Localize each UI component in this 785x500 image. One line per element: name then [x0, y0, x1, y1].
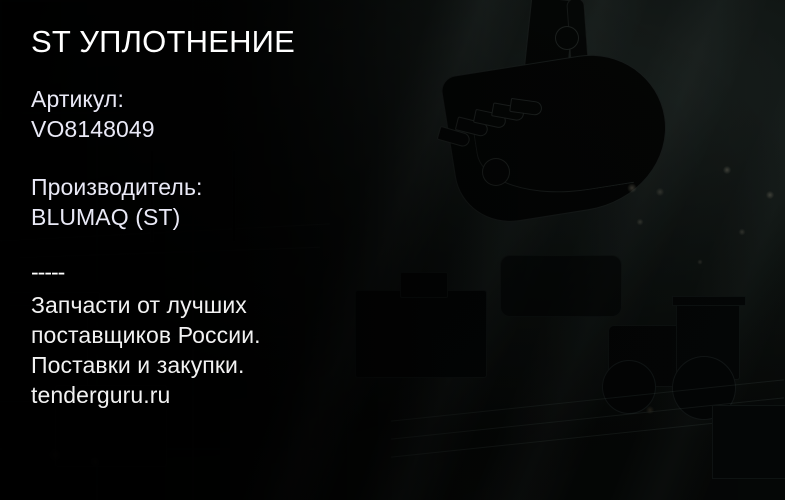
- field-manufacturer-label: Производитель:: [31, 172, 451, 202]
- tagline-line-2: поставщиков России.: [31, 320, 451, 350]
- field-manufacturer-value: BLUMAQ (ST): [31, 202, 451, 232]
- tagline-block: Запчасти от лучших поставщиков России. П…: [31, 290, 451, 410]
- field-manufacturer: Производитель: BLUMAQ (ST): [31, 172, 451, 232]
- page-title: ST УПЛОТНЕНИЕ: [31, 24, 451, 60]
- tagline-line-1: Запчасти от лучших: [31, 290, 451, 320]
- field-article-label: Артикул:: [31, 84, 451, 114]
- product-card: ST УПЛОТНЕНИЕ Артикул: VO8148049 Произво…: [0, 0, 785, 500]
- tagline-line-3: Поставки и закупки.: [31, 350, 451, 380]
- divider: -----: [31, 260, 451, 284]
- card-text-content: ST УПЛОТНЕНИЕ Артикул: VO8148049 Произво…: [31, 24, 451, 410]
- field-article-value: VO8148049: [31, 114, 451, 144]
- website-url: tenderguru.ru: [31, 380, 451, 410]
- field-article: Артикул: VO8148049: [31, 84, 451, 144]
